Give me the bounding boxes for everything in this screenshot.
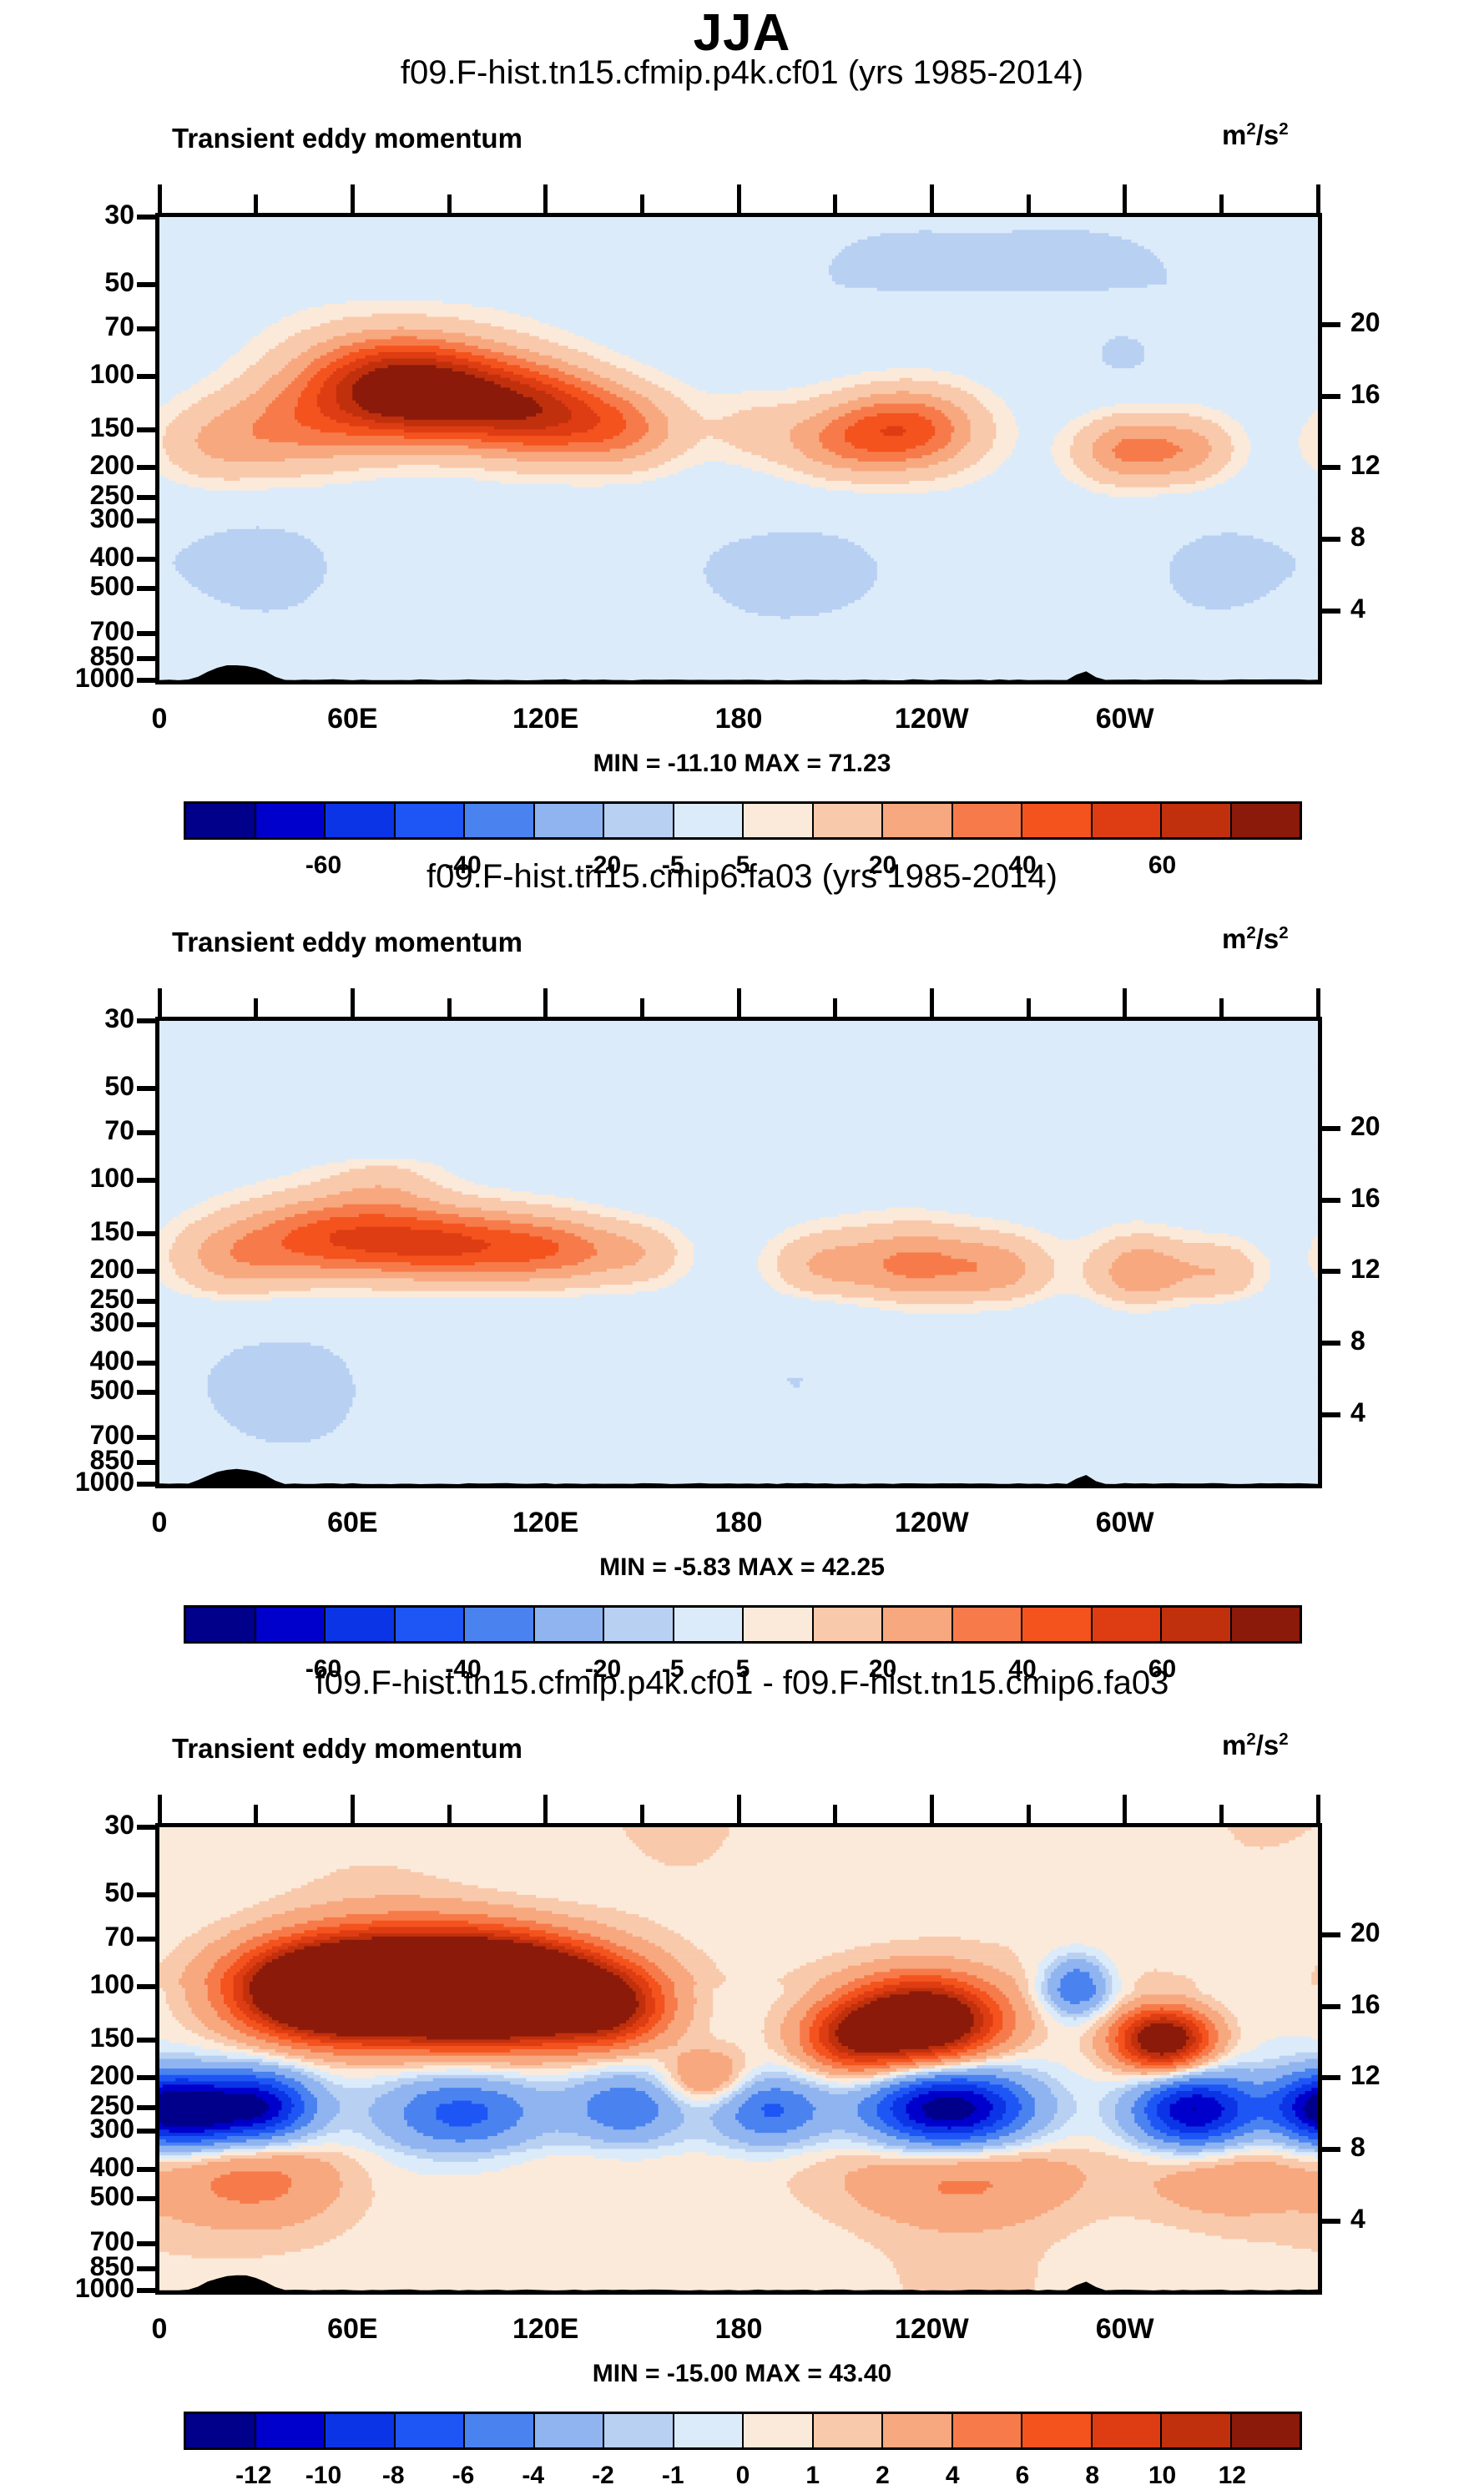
longitude-tick-label: 60W bbox=[1050, 2313, 1200, 2346]
longitude-tick-label: 0 bbox=[84, 1507, 235, 1539]
colorbar-tick-label: 12 bbox=[1182, 2462, 1282, 2490]
colorbar-swatch bbox=[1162, 804, 1232, 837]
top-tick-mark bbox=[1316, 988, 1320, 1017]
figure-root: JJA f09.F-hist.tn15.cfmip.p4k.cf01 (yrs … bbox=[0, 0, 1484, 2483]
pressure-tick-mark bbox=[137, 1086, 157, 1091]
colorbar-swatch bbox=[674, 1608, 745, 1641]
colorbar-swatch bbox=[604, 804, 674, 837]
longitude-tick-label: 60E bbox=[277, 2313, 427, 2346]
pressure-tick-mark bbox=[137, 1299, 157, 1304]
longitude-tick-label: 60W bbox=[1050, 703, 1200, 735]
colorbar-swatch bbox=[1162, 2414, 1232, 2447]
top-tick-mark bbox=[351, 184, 355, 213]
colorbar-swatch bbox=[1022, 804, 1093, 837]
height-tick-label: 20 bbox=[1350, 307, 1381, 338]
colorbar-swatch bbox=[186, 1608, 256, 1641]
pressure-tick-mark bbox=[137, 631, 157, 636]
top-tick-mark bbox=[1123, 1795, 1127, 1823]
contour-field-1 bbox=[159, 217, 1318, 680]
pressure-tick-mark bbox=[137, 557, 157, 562]
pressure-tick-mark bbox=[137, 656, 157, 661]
longitude-tick-label: 0 bbox=[84, 2313, 235, 2346]
pressure-tick-label: 30 bbox=[13, 1003, 134, 1034]
height-tick-mark bbox=[1320, 1412, 1340, 1417]
height-tick-mark bbox=[1320, 609, 1340, 614]
height-tick-mark bbox=[1320, 537, 1340, 542]
top-tick-mark bbox=[447, 194, 452, 213]
pressure-tick-mark bbox=[137, 1018, 157, 1023]
pressure-tick-label: 500 bbox=[13, 571, 134, 602]
top-tick-mark bbox=[833, 1805, 837, 1823]
pressure-tick-mark bbox=[137, 1460, 157, 1465]
top-tick-mark bbox=[1219, 998, 1224, 1017]
pressure-tick-mark bbox=[137, 1178, 157, 1183]
longitude-tick-label: 60E bbox=[277, 1507, 427, 1539]
longitude-tick-label: 120E bbox=[471, 2313, 621, 2346]
colorbar-swatch bbox=[326, 804, 396, 837]
pressure-tick-mark bbox=[137, 326, 157, 331]
pressure-tick-mark bbox=[137, 2266, 157, 2271]
height-tick-label: 4 bbox=[1350, 593, 1365, 624]
panel-title-2: f09.F-hist.tn15.cmip6.fa03 (yrs 1985-201… bbox=[0, 858, 1484, 896]
height-tick-mark bbox=[1320, 1341, 1340, 1346]
panel-title-3: f09.F-hist.tn15.cfmip.p4k.cf01 - f09.F-h… bbox=[0, 1664, 1484, 1702]
pressure-tick-mark bbox=[137, 1269, 157, 1274]
pressure-tick-label: 30 bbox=[13, 200, 134, 230]
colorbar-swatch bbox=[535, 804, 605, 837]
plot-area-1[interactable] bbox=[155, 213, 1322, 684]
pressure-tick-label: 500 bbox=[13, 1375, 134, 1406]
longitude-tick-label: 60W bbox=[1050, 1507, 1200, 1539]
pressure-tick-mark bbox=[137, 518, 157, 523]
height-tick-mark bbox=[1320, 322, 1340, 327]
top-tick-mark bbox=[1219, 1805, 1224, 1823]
height-tick-label: 8 bbox=[1350, 1326, 1365, 1356]
pressure-tick-mark bbox=[137, 2129, 157, 2134]
pressure-tick-mark bbox=[137, 2075, 157, 2080]
min-max-label-2: MIN = -5.83 MAX = 42.25 bbox=[0, 1553, 1484, 1582]
longitude-tick-label: 120E bbox=[471, 703, 621, 735]
top-tick-mark bbox=[737, 1795, 741, 1823]
colorbar-swatch bbox=[814, 2414, 884, 2447]
longitude-tick-label: 120E bbox=[471, 1507, 621, 1539]
colorbar-swatch bbox=[604, 2414, 674, 2447]
pressure-tick-mark bbox=[137, 2288, 157, 2293]
min-max-label-3: MIN = -15.00 MAX = 43.40 bbox=[0, 2360, 1484, 2388]
pressure-tick-mark bbox=[137, 586, 157, 591]
top-tick-mark bbox=[737, 988, 741, 1017]
colorbar-3[interactable] bbox=[184, 2412, 1302, 2450]
pressure-tick-label: 50 bbox=[13, 1877, 134, 1908]
pressure-tick-label: 1000 bbox=[13, 1467, 134, 1498]
pressure-tick-mark bbox=[137, 1482, 157, 1487]
pressure-tick-label: 1000 bbox=[13, 2273, 134, 2304]
colorbar-swatch bbox=[465, 2414, 535, 2447]
colorbar-swatch bbox=[953, 2414, 1023, 2447]
height-tick-mark bbox=[1320, 1126, 1340, 1131]
units-label-2: m2/s2 bbox=[1222, 923, 1289, 955]
colorbar-swatch bbox=[744, 1608, 814, 1641]
height-tick-mark bbox=[1320, 1932, 1340, 1937]
top-tick-mark bbox=[737, 184, 741, 213]
pressure-tick-mark bbox=[137, 1361, 157, 1366]
pressure-tick-mark bbox=[137, 2038, 157, 2043]
pressure-tick-label: 50 bbox=[13, 267, 134, 298]
top-tick-mark bbox=[158, 1795, 162, 1823]
colorbar-2[interactable] bbox=[184, 1605, 1302, 1644]
colorbar-swatch bbox=[1093, 2414, 1163, 2447]
height-tick-label: 4 bbox=[1350, 1397, 1365, 1428]
longitude-tick-label: 120W bbox=[856, 1507, 1007, 1539]
height-tick-mark bbox=[1320, 2075, 1340, 2080]
pressure-tick-mark bbox=[137, 282, 157, 287]
pressure-tick-mark bbox=[137, 2105, 157, 2110]
top-tick-mark bbox=[833, 194, 837, 213]
height-tick-mark bbox=[1320, 2147, 1340, 2152]
colorbar-swatch bbox=[883, 804, 953, 837]
pressure-tick-label: 200 bbox=[13, 1254, 134, 1285]
colorbar-swatch bbox=[744, 2414, 814, 2447]
colorbar-swatch bbox=[186, 2414, 256, 2447]
pressure-tick-mark bbox=[137, 495, 157, 500]
top-tick-mark bbox=[158, 988, 162, 1017]
height-tick-mark bbox=[1320, 2219, 1340, 2224]
plot-area-3[interactable] bbox=[155, 1823, 1322, 2295]
top-tick-mark bbox=[254, 1805, 258, 1823]
top-tick-mark bbox=[543, 988, 548, 1017]
pressure-tick-label: 200 bbox=[13, 450, 134, 481]
height-tick-label: 8 bbox=[1350, 522, 1365, 553]
pressure-tick-mark bbox=[137, 2196, 157, 2201]
longitude-tick-label: 180 bbox=[664, 2313, 814, 2346]
colorbar-swatch bbox=[744, 804, 814, 837]
pressure-tick-label: 500 bbox=[13, 2181, 134, 2212]
colorbar-swatch bbox=[814, 804, 884, 837]
longitude-tick-label: 0 bbox=[84, 703, 235, 735]
colorbar-swatch bbox=[256, 804, 326, 837]
longitude-tick-label: 120W bbox=[856, 703, 1007, 735]
pressure-tick-label: 30 bbox=[13, 1810, 134, 1841]
pressure-tick-label: 400 bbox=[13, 1346, 134, 1376]
colorbar-swatch bbox=[396, 1608, 466, 1641]
top-tick-mark bbox=[351, 988, 355, 1017]
pressure-tick-mark bbox=[137, 1435, 157, 1440]
top-tick-mark bbox=[1123, 988, 1127, 1017]
variable-label-2: Transient eddy momentum bbox=[172, 927, 522, 958]
pressure-tick-mark bbox=[137, 1892, 157, 1897]
top-tick-mark bbox=[543, 184, 548, 213]
height-tick-label: 4 bbox=[1350, 2204, 1365, 2235]
height-tick-mark bbox=[1320, 1198, 1340, 1203]
pressure-tick-label: 70 bbox=[13, 1922, 134, 1952]
colorbar-swatch bbox=[396, 2414, 466, 2447]
units-label-1: m2/s2 bbox=[1222, 119, 1289, 151]
colorbar-swatch bbox=[535, 2414, 605, 2447]
units-label-3: m2/s2 bbox=[1222, 1730, 1289, 1761]
pressure-tick-mark bbox=[137, 1825, 157, 1830]
top-tick-mark bbox=[1123, 184, 1127, 213]
pressure-tick-mark bbox=[137, 2241, 157, 2246]
top-tick-mark bbox=[930, 184, 934, 213]
height-tick-mark bbox=[1320, 465, 1340, 470]
top-tick-mark bbox=[1027, 1805, 1031, 1823]
height-tick-label: 12 bbox=[1350, 450, 1381, 481]
top-tick-mark bbox=[833, 998, 837, 1017]
height-tick-label: 12 bbox=[1350, 2060, 1381, 2091]
colorbar-1[interactable] bbox=[184, 801, 1302, 840]
pressure-tick-mark bbox=[137, 427, 157, 432]
pressure-tick-mark bbox=[137, 1231, 157, 1236]
pressure-tick-label: 150 bbox=[13, 412, 134, 443]
height-tick-label: 16 bbox=[1350, 1183, 1381, 1214]
colorbar-swatch bbox=[1093, 804, 1163, 837]
pressure-tick-label: 150 bbox=[13, 1216, 134, 1247]
top-tick-mark bbox=[1316, 184, 1320, 213]
top-tick-mark bbox=[254, 194, 258, 213]
longitude-tick-label: 180 bbox=[664, 703, 814, 735]
colorbar-swatch bbox=[883, 2414, 953, 2447]
pressure-tick-mark bbox=[137, 1390, 157, 1395]
height-tick-label: 12 bbox=[1350, 1254, 1381, 1285]
colorbar-swatch bbox=[883, 1608, 953, 1641]
top-tick-mark bbox=[158, 184, 162, 213]
top-tick-mark bbox=[930, 988, 934, 1017]
longitude-tick-label: 180 bbox=[664, 1507, 814, 1539]
top-tick-mark bbox=[930, 1795, 934, 1823]
colorbar-swatch bbox=[396, 804, 466, 837]
pressure-tick-mark bbox=[137, 374, 157, 379]
colorbar-swatch bbox=[814, 1608, 884, 1641]
colorbar-swatch bbox=[674, 804, 745, 837]
height-tick-label: 8 bbox=[1350, 2132, 1365, 2163]
min-max-label-1: MIN = -11.10 MAX = 71.23 bbox=[0, 750, 1484, 778]
panel-title-1: f09.F-hist.tn15.cfmip.p4k.cf01 (yrs 1985… bbox=[0, 54, 1484, 92]
pressure-tick-label: 400 bbox=[13, 542, 134, 573]
top-tick-mark bbox=[1219, 194, 1224, 213]
colorbar-swatch bbox=[1093, 1608, 1163, 1641]
plot-area-2[interactable] bbox=[155, 1017, 1322, 1488]
height-tick-mark bbox=[1320, 2004, 1340, 2009]
pressure-tick-label: 300 bbox=[13, 2114, 134, 2144]
longitude-tick-label: 120W bbox=[856, 2313, 1007, 2346]
height-tick-mark bbox=[1320, 394, 1340, 399]
pressure-tick-mark bbox=[137, 1322, 157, 1327]
colorbar-swatch bbox=[674, 2414, 745, 2447]
top-tick-mark bbox=[640, 998, 644, 1017]
longitude-tick-label: 60E bbox=[277, 703, 427, 735]
top-tick-mark bbox=[447, 1805, 452, 1823]
colorbar-swatch bbox=[953, 804, 1023, 837]
height-tick-label: 20 bbox=[1350, 1111, 1381, 1142]
pressure-tick-label: 1000 bbox=[13, 663, 134, 694]
colorbar-swatch bbox=[1232, 804, 1300, 837]
pressure-tick-label: 70 bbox=[13, 1115, 134, 1146]
pressure-tick-label: 300 bbox=[13, 503, 134, 534]
pressure-tick-mark bbox=[137, 215, 157, 220]
pressure-tick-label: 100 bbox=[13, 359, 134, 390]
pressure-tick-mark bbox=[137, 465, 157, 470]
pressure-tick-mark bbox=[137, 678, 157, 683]
top-tick-mark bbox=[1027, 194, 1031, 213]
height-tick-label: 20 bbox=[1350, 1917, 1381, 1948]
colorbar-swatch bbox=[1232, 1608, 1300, 1641]
colorbar-swatch bbox=[186, 804, 256, 837]
pressure-tick-mark bbox=[137, 1937, 157, 1942]
pressure-tick-label: 50 bbox=[13, 1071, 134, 1102]
pressure-tick-label: 200 bbox=[13, 2060, 134, 2091]
pressure-tick-label: 100 bbox=[13, 1163, 134, 1194]
colorbar-swatch bbox=[256, 2414, 326, 2447]
top-tick-mark bbox=[1027, 998, 1031, 1017]
pressure-tick-label: 100 bbox=[13, 1969, 134, 2000]
pressure-tick-label: 150 bbox=[13, 2023, 134, 2053]
colorbar-swatch bbox=[1232, 2414, 1300, 2447]
top-tick-mark bbox=[543, 1795, 548, 1823]
top-tick-mark bbox=[640, 1805, 644, 1823]
top-tick-mark bbox=[254, 998, 258, 1017]
variable-label-3: Transient eddy momentum bbox=[172, 1733, 522, 1765]
contour-field-2 bbox=[159, 1021, 1318, 1484]
contour-field-3 bbox=[159, 1827, 1318, 2290]
height-tick-label: 16 bbox=[1350, 379, 1381, 410]
variable-label-1: Transient eddy momentum bbox=[172, 123, 522, 154]
colorbar-swatch bbox=[1022, 1608, 1093, 1641]
colorbar-swatch bbox=[256, 1608, 326, 1641]
height-tick-mark bbox=[1320, 1269, 1340, 1274]
top-tick-mark bbox=[640, 194, 644, 213]
pressure-tick-label: 400 bbox=[13, 2152, 134, 2183]
colorbar-swatch bbox=[326, 2414, 396, 2447]
colorbar-swatch bbox=[953, 1608, 1023, 1641]
colorbar-swatch bbox=[1162, 1608, 1232, 1641]
height-tick-label: 16 bbox=[1350, 1989, 1381, 2020]
colorbar-swatch bbox=[535, 1608, 605, 1641]
pressure-tick-mark bbox=[137, 2167, 157, 2172]
pressure-tick-label: 70 bbox=[13, 311, 134, 342]
top-tick-mark bbox=[1316, 1795, 1320, 1823]
colorbar-swatch bbox=[1022, 2414, 1093, 2447]
pressure-tick-mark bbox=[137, 1984, 157, 1989]
colorbar-swatch bbox=[326, 1608, 396, 1641]
top-tick-mark bbox=[351, 1795, 355, 1823]
colorbar-swatch bbox=[465, 1608, 535, 1641]
pressure-tick-label: 300 bbox=[13, 1307, 134, 1338]
colorbar-swatch bbox=[604, 1608, 674, 1641]
top-tick-mark bbox=[447, 998, 452, 1017]
pressure-tick-mark bbox=[137, 1130, 157, 1135]
colorbar-swatch bbox=[465, 804, 535, 837]
